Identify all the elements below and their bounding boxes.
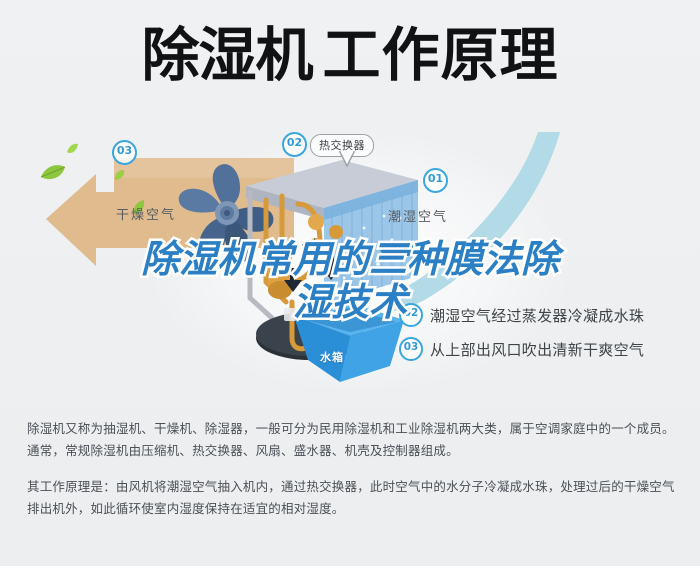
legend-badge-03: 03 [399,337,423,361]
legend-item: 02 潮湿空气经过蒸发器冷凝成水珠 [399,298,644,332]
callout-tail-icon [339,151,355,167]
page-root: 除湿机工作原理 [0,0,700,566]
legend-text-02: 潮湿空气经过蒸发器冷凝成水珠 [430,305,644,326]
diagram-badge-02: 02 [282,132,307,157]
water-tank-icon [286,300,408,390]
paragraph-2: 其工作原理是：由风机将潮湿空气抽入机内，通过热交换器，此时空气中的水分子冷凝成水… [27,476,677,520]
legend-badge-02: 02 [399,303,423,327]
article-body: 除湿机又称为抽湿机、干燥机、除湿器，一般可分为民用除湿机和工业除湿机两大类，属于… [27,418,677,520]
diagram-legend: 02 潮湿空气经过蒸发器冷凝成水珠 03 从上部出风口吹出清新干爽空气 [399,298,644,366]
page-title-part1: 除湿机 [141,21,312,89]
diagram-badge-03: 03 [112,140,137,165]
leaf-icon [113,169,126,181]
leaf-icon [40,164,66,182]
paragraph-1: 除湿机又称为抽湿机、干燥机、除湿器，一般可分为民用除湿机和工业除湿机两大类，属于… [27,418,677,462]
water-tank-label: 水箱 [320,349,344,365]
page-title-part2: 工作原理 [323,21,559,89]
humid-air-label: 潮湿空气 [388,206,448,225]
leaf-icon [66,143,79,156]
dry-air-label: 干燥空气 [116,204,176,223]
page-title: 除湿机工作原理 [0,22,700,88]
diagram-badge-01: 01 [423,168,448,193]
legend-item: 03 从上部出风口吹出清新干爽空气 [399,332,644,366]
legend-text-03: 从上部出风口吹出清新干爽空气 [430,339,644,360]
